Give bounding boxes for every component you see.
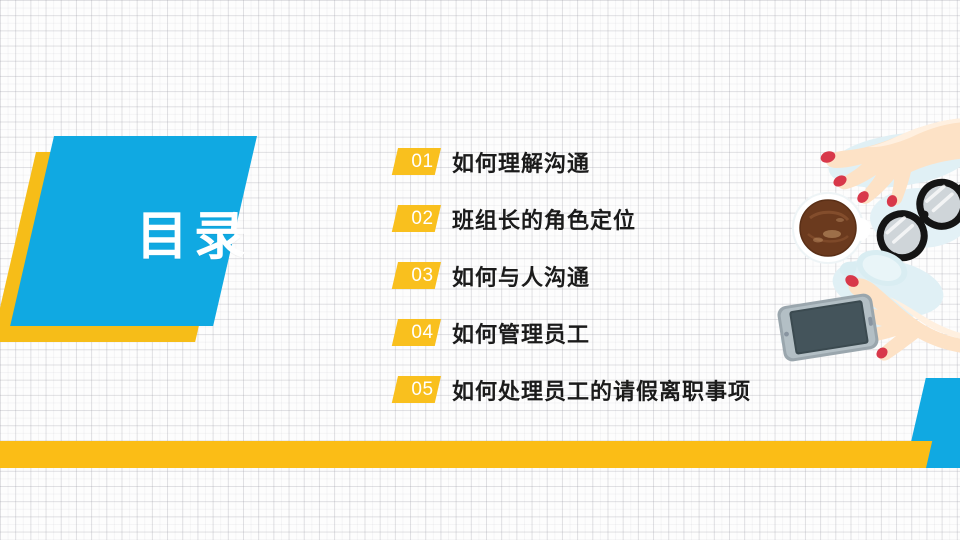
list-item[interactable]: 05 如何处理员工的请假离职事项 [398, 361, 798, 418]
slide-canvas: 目录 01 如何理解沟通 02 班组长的角色定位 03 如何与人沟通 [0, 0, 960, 540]
list-item[interactable]: 01 如何理解沟通 [398, 133, 798, 190]
toc-number: 02 [398, 205, 447, 232]
toc-label: 班组长的角色定位 [452, 203, 636, 235]
desk-illustration [770, 100, 960, 365]
toc-badge: 02 [398, 205, 441, 232]
list-item[interactable]: 03 如何与人沟通 [398, 247, 798, 304]
toc-label: 如何与人沟通 [452, 260, 590, 292]
toc-list: 01 如何理解沟通 02 班组长的角色定位 03 如何与人沟通 04 如何管理员… [398, 133, 798, 418]
title-group: 目录 [0, 0, 340, 380]
toc-badge: 01 [398, 148, 441, 175]
bottom-yellow-bar [0, 441, 932, 468]
coffee-cup-icon [793, 193, 870, 263]
toc-label: 如何处理员工的请假离职事项 [452, 374, 751, 406]
toc-badge: 05 [398, 376, 441, 403]
smartphone-icon [776, 292, 880, 362]
toc-label: 如何管理员工 [452, 317, 590, 349]
toc-number: 03 [398, 262, 447, 289]
list-item[interactable]: 04 如何管理员工 [398, 304, 798, 361]
toc-badge: 04 [398, 319, 441, 346]
toc-number: 01 [398, 148, 447, 175]
toc-label: 如何理解沟通 [452, 146, 590, 178]
toc-number: 05 [398, 376, 447, 403]
list-item[interactable]: 02 班组长的角色定位 [398, 190, 798, 247]
page-title: 目录 [54, 136, 300, 326]
toc-number: 04 [398, 319, 447, 346]
toc-badge: 03 [398, 262, 441, 289]
